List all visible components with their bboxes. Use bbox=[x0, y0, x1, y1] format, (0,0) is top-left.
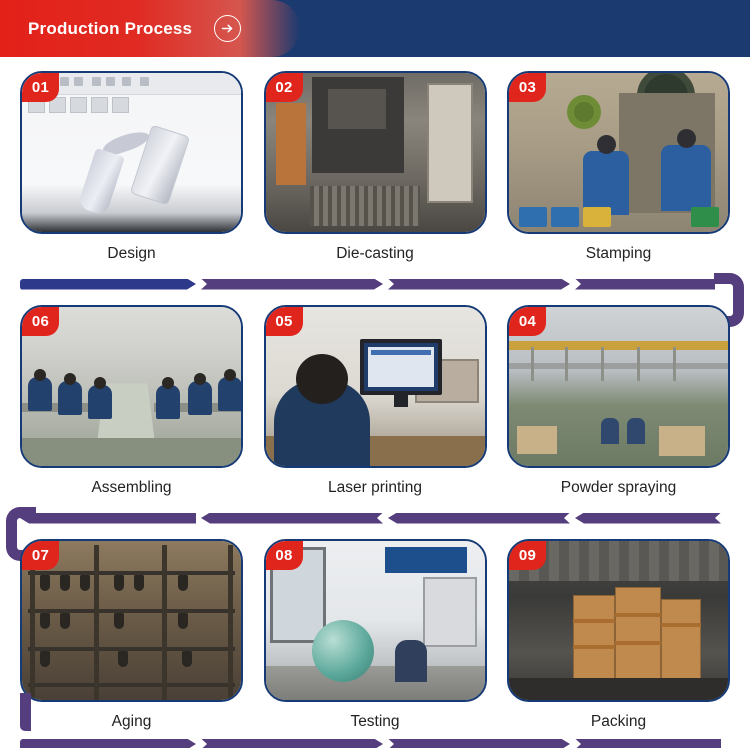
arrow-right-circle-icon[interactable] bbox=[214, 15, 241, 42]
flow-arrow-segment bbox=[20, 279, 196, 290]
connector-row1-to-row2 bbox=[0, 263, 750, 305]
step-caption: Stamping bbox=[507, 234, 730, 263]
step-number-badge: 08 bbox=[266, 541, 303, 570]
card-image-frame: 06 bbox=[20, 305, 243, 468]
process-row-3: 07 Aging 08 Testing bbox=[0, 539, 750, 731]
card-image-frame: 04 bbox=[507, 305, 730, 468]
step-number-badge: 03 bbox=[509, 73, 546, 102]
card-image-frame: 08 bbox=[264, 539, 487, 702]
step-number-badge: 07 bbox=[22, 541, 59, 570]
card-image-frame: 09 bbox=[507, 539, 730, 702]
card-image-frame: 03 bbox=[507, 71, 730, 234]
card-image-frame: 02 bbox=[264, 71, 487, 234]
connector-row2-to-row3 bbox=[0, 497, 750, 539]
process-row-2: 06 Assembling 05 Laser printin bbox=[0, 305, 750, 497]
process-step-card[interactable]: 03 Stamping bbox=[507, 71, 730, 263]
step-number-badge: 04 bbox=[509, 307, 546, 336]
card-image-frame: 05 bbox=[264, 305, 487, 468]
process-step-card[interactable]: 08 Testing bbox=[264, 539, 487, 731]
process-flow: 01 Design 02 Die-casting bbox=[0, 57, 750, 748]
process-row-1: 01 Design 02 Die-casting bbox=[0, 57, 750, 263]
flow-arrow-segment bbox=[575, 513, 721, 524]
flow-arrow-segment bbox=[575, 739, 721, 748]
flow-arrow-segment bbox=[388, 739, 570, 748]
flow-rail-vertical bbox=[20, 693, 31, 731]
card-image-frame: 07 bbox=[20, 539, 243, 702]
process-step-card[interactable]: 09 Packing bbox=[507, 539, 730, 731]
flow-arrow-segment bbox=[388, 279, 570, 290]
page-title: Production Process bbox=[28, 19, 192, 39]
flow-arrow-segment bbox=[388, 513, 570, 524]
process-step-card[interactable]: 01 Design bbox=[20, 71, 243, 263]
step-number-badge: 05 bbox=[266, 307, 303, 336]
step-caption: Assembling bbox=[20, 468, 243, 497]
step-number-badge: 02 bbox=[266, 73, 303, 102]
header-banner: Production Process bbox=[0, 0, 300, 57]
step-caption: Design bbox=[20, 234, 243, 263]
card-image-frame: 01 bbox=[20, 71, 243, 234]
flow-arrow-segment bbox=[20, 513, 196, 524]
step-number-badge: 09 bbox=[509, 541, 546, 570]
process-step-card[interactable]: 07 Aging bbox=[20, 539, 243, 731]
flow-arrow-segment bbox=[201, 279, 383, 290]
step-caption: Die-casting bbox=[264, 234, 487, 263]
step-number-badge: 01 bbox=[22, 73, 59, 102]
flow-arrow-segment bbox=[201, 513, 383, 524]
process-step-card[interactable]: 05 Laser printing bbox=[264, 305, 487, 497]
process-step-card[interactable]: 02 Die-casting bbox=[264, 71, 487, 263]
process-step-card[interactable]: 06 Assembling bbox=[20, 305, 243, 497]
step-caption: Laser printing bbox=[264, 468, 487, 497]
flow-arrow-segment bbox=[575, 279, 715, 290]
flow-arrow-segment bbox=[201, 739, 383, 748]
flow-arrow-segment bbox=[20, 739, 196, 748]
connector-row3-end bbox=[0, 731, 750, 748]
step-caption: Powder spraying bbox=[507, 468, 730, 497]
page-header: Production Process bbox=[0, 0, 750, 57]
step-number-badge: 06 bbox=[22, 307, 59, 336]
process-step-card[interactable]: 04 Powder spraying bbox=[507, 305, 730, 497]
